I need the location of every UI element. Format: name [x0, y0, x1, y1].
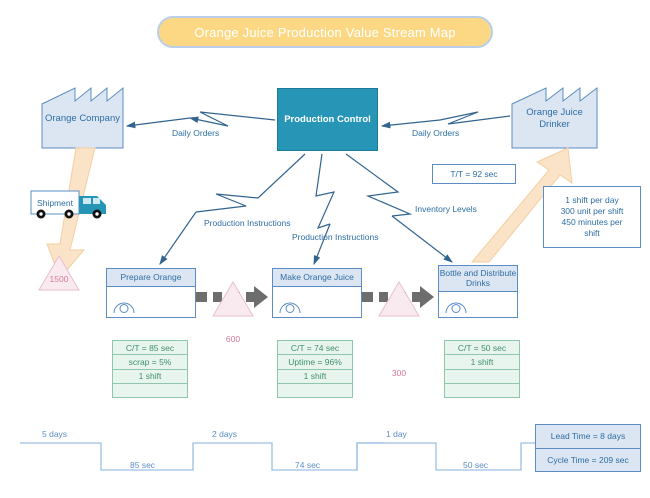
daily-orders-left-label: Daily Orders	[172, 128, 219, 138]
data-box-2-row-1: C/T = 74 sec	[278, 341, 352, 355]
data-box-1: C/T = 85 sec scrap = 5% 1 shift	[112, 340, 188, 398]
data-box-3: C/T = 50 sec 1 shift	[444, 340, 520, 398]
inventory-qty-3: 300	[379, 350, 419, 384]
shipment-label: Shipment	[32, 192, 78, 214]
timeline-lead-2: 2 days	[212, 429, 237, 439]
process-3-title: Bottle and Distribute Drinks	[439, 266, 517, 292]
operator-icon	[113, 300, 135, 314]
timeline-lead-3: 1 day	[386, 429, 407, 439]
daily-orders-right-label: Daily Orders	[412, 128, 459, 138]
operator-icon	[279, 300, 301, 314]
data-box-1-row-3: 1 shift	[113, 370, 187, 384]
data-box-1-row-4	[113, 384, 187, 397]
shift-info-box: 1 shift per day 300 unit per shift 450 m…	[543, 186, 641, 248]
data-box-1-row-1: C/T = 85 sec	[113, 341, 187, 355]
process-box-make-orange-juice[interactable]: Make Orange Juice	[272, 268, 362, 318]
operator-icon	[445, 300, 467, 314]
takt-time-box: T/T = 92 sec	[432, 164, 516, 184]
customer-label: Orange Juice Drinker	[512, 107, 597, 131]
inventory-qty-1-value: 1500	[39, 274, 79, 284]
cycle-time-value: Cycle Time = 209 sec	[536, 449, 640, 472]
process-box-bottle-distribute[interactable]: Bottle and Distribute Drinks	[438, 265, 518, 318]
data-box-3-row-2: 1 shift	[445, 355, 519, 369]
timeline-value-1: 85 sec	[130, 460, 155, 470]
timeline-lead-1: 5 days	[42, 429, 67, 439]
data-box-3-row-4	[445, 384, 519, 397]
production-instructions-2-arrow	[314, 154, 334, 264]
daily-orders-left-arrow	[127, 112, 275, 126]
production-instructions-2-label: Production Instructions	[292, 232, 378, 242]
timeline-value-2: 74 sec	[295, 460, 320, 470]
lead-time-value: Lead Time = 8 days	[536, 425, 640, 449]
customer-entity[interactable]: Orange Juice Drinker	[512, 88, 597, 148]
inventory-qty-3-value: 300	[379, 368, 419, 378]
process-box-prepare-orange[interactable]: Prepare Orange	[106, 268, 196, 318]
inventory-qty-2: 600	[213, 316, 253, 350]
production-instructions-1-label: Production Instructions	[204, 218, 290, 228]
process-2-title: Make Orange Juice	[273, 269, 361, 287]
supplier-entity[interactable]: Orange Company	[42, 88, 123, 148]
data-box-3-row-3	[445, 370, 519, 384]
inventory-qty-1: 1500	[39, 256, 79, 290]
process-1-body	[107, 287, 195, 318]
supplier-label: Orange Company	[42, 113, 123, 125]
data-box-1-row-2: scrap = 5%	[113, 355, 187, 369]
inventory-levels-label: Inventory Levels	[415, 204, 477, 214]
summary-box: Lead Time = 8 days Cycle Time = 209 sec	[535, 424, 641, 472]
production-instructions-1-arrow	[160, 154, 305, 264]
data-box-3-row-1: C/T = 50 sec	[445, 341, 519, 355]
daily-orders-right-arrow	[382, 112, 510, 126]
timeline-value-3: 50 sec	[463, 460, 488, 470]
data-box-2-row-2: Uptime = 96%	[278, 355, 352, 369]
page-title: Orange Juice Production Value Stream Map	[157, 16, 493, 48]
inventory-qty-2-value: 600	[213, 334, 253, 344]
data-box-2-row-4	[278, 384, 352, 397]
data-box-2: C/T = 74 sec Uptime = 96% 1 shift	[277, 340, 353, 398]
process-2-body	[273, 287, 361, 318]
production-control-box[interactable]: Production Control	[277, 88, 378, 151]
process-3-body	[439, 292, 517, 318]
data-box-2-row-3: 1 shift	[278, 370, 352, 384]
process-1-title: Prepare Orange	[107, 269, 195, 287]
